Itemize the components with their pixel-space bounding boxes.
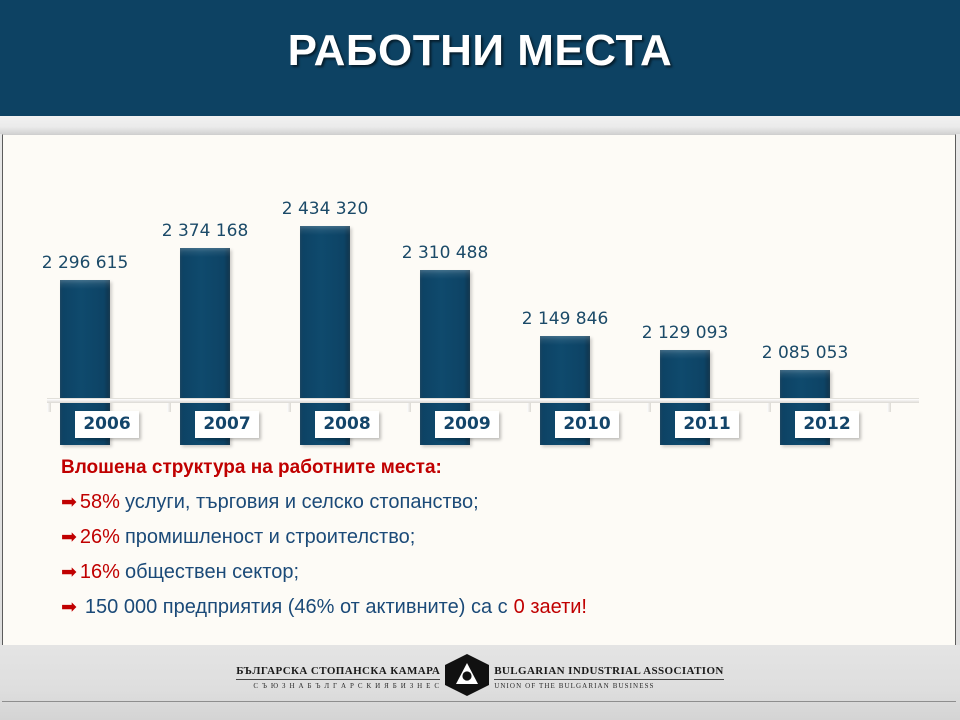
notes-heading: Влошена структура на работните места:	[61, 457, 891, 479]
bar-value-label-2010: 2 149 846	[505, 309, 625, 329]
hexagon-logo-icon	[444, 654, 490, 701]
x-label-2007: 2007	[195, 411, 258, 438]
bar-value-label-2011: 2 129 093	[625, 323, 745, 343]
slide-header: РАБОТНИ МЕСТА	[0, 0, 960, 112]
bar-value-label-2008: 2 434 320	[265, 199, 385, 219]
x-label-wrap-2012: 2012	[767, 411, 887, 438]
note-highlight-tail: 0 заети!	[514, 596, 587, 619]
note-text: промишленост и строителство;	[125, 526, 415, 549]
header-glow-strip	[0, 116, 960, 134]
x-label-wrap-2010: 2010	[527, 411, 647, 438]
note-item: ➡16%обществен сектор;	[61, 561, 891, 584]
slide: РАБОТНИ МЕСТА 2 296 6152 374 1682 434 32…	[0, 0, 960, 720]
slide-footer: БЪЛГАРСКА СТОПАНСКА КАМАРА С Ъ Ю З Н А Б…	[0, 645, 960, 720]
bar-value-label-2009: 2 310 488	[385, 243, 505, 263]
content-panel: 2 296 6152 374 1682 434 3202 310 4882 14…	[2, 134, 956, 645]
note-item: ➡58%услуги, търговия и селско стопанство…	[61, 491, 891, 514]
arrow-bullet-icon: ➡	[61, 493, 77, 512]
logo-bg-subtitle: С Ъ Ю З Н А Б Ъ Л Г А Р С К И Я Б И З Н …	[253, 680, 440, 690]
x-label-wrap-2006: 2006	[47, 411, 167, 438]
notes-block: Влошена структура на работните места: ➡5…	[61, 457, 891, 631]
page-title: РАБОТНИ МЕСТА	[0, 26, 960, 76]
x-label-2008: 2008	[315, 411, 378, 438]
logo-en-subtitle: UNION OF THE BULGARIAN BUSINESS	[494, 680, 654, 690]
note-item: ➡150 000 предприятия (46% от активните) …	[61, 596, 891, 619]
x-axis-line	[47, 398, 919, 403]
arrow-bullet-icon: ➡	[61, 598, 77, 617]
x-label-2010: 2010	[555, 411, 618, 438]
logo-bg-name: БЪЛГАРСКА СТОПАНСКА КАМАРА	[236, 665, 440, 680]
arrow-bullet-icon: ➡	[61, 528, 77, 547]
x-axis-labels: 2006200720082009201020112012	[47, 411, 919, 445]
bia-logo: БЪЛГАРСКА СТОПАНСКА КАМАРА С Ъ Ю З Н А Б…	[290, 657, 670, 697]
note-highlight-value: 58%	[80, 491, 120, 514]
x-label-wrap-2008: 2008	[287, 411, 407, 438]
note-item: ➡26%промишленост и строителство;	[61, 526, 891, 549]
bar-value-label-2007: 2 374 168	[145, 221, 265, 241]
x-label-wrap-2009: 2009	[407, 411, 527, 438]
note-highlight-value: 16%	[80, 561, 120, 584]
note-text: обществен сектор;	[125, 561, 299, 584]
logo-text-en: BULGARIAN INDUSTRIAL ASSOCIATION UNION O…	[494, 665, 724, 690]
arrow-bullet-icon: ➡	[61, 563, 77, 582]
x-label-2009: 2009	[435, 411, 498, 438]
bar-value-label-2006: 2 296 615	[25, 253, 145, 273]
logo-en-name: BULGARIAN INDUSTRIAL ASSOCIATION	[494, 665, 724, 680]
logo-text-bg: БЪЛГАРСКА СТОПАНСКА КАМАРА С Ъ Ю З Н А Б…	[236, 665, 440, 690]
note-text: 150 000 предприятия (46% от активните) с…	[85, 596, 508, 619]
note-highlight-value: 26%	[80, 526, 120, 549]
x-label-2006: 2006	[75, 411, 138, 438]
notes-list: ➡58%услуги, търговия и селско стопанство…	[61, 491, 891, 619]
x-label-wrap-2011: 2011	[647, 411, 767, 438]
x-label-wrap-2007: 2007	[167, 411, 287, 438]
x-label-2011: 2011	[675, 411, 738, 438]
x-label-2012: 2012	[795, 411, 858, 438]
footer-divider	[2, 701, 956, 702]
note-text: услуги, търговия и селско стопанство;	[125, 491, 479, 514]
bar-value-label-2012: 2 085 053	[745, 343, 865, 363]
